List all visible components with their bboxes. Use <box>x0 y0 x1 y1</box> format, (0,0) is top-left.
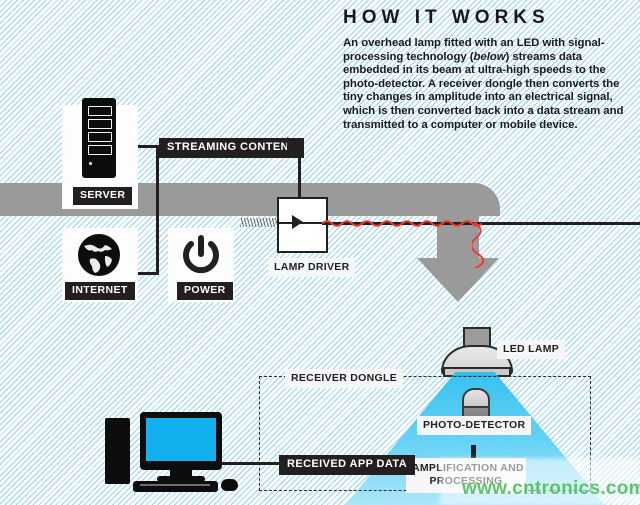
server-slot <box>88 145 112 155</box>
headline-body-italic: below <box>474 51 506 63</box>
headline-block: HOW IT WORKS An overhead lamp fitted wit… <box>343 8 633 132</box>
mouse-icon <box>221 479 238 491</box>
data-cable-red <box>322 219 482 228</box>
headline-body: An overhead lamp fitted with an LED with… <box>343 37 633 132</box>
server-slot <box>88 106 112 116</box>
keyboard-keys-line <box>140 484 210 486</box>
label-server: SERVER <box>73 187 132 205</box>
label-receiver-dongle: RECEIVER DONGLE <box>285 369 403 388</box>
server-slot <box>88 132 112 142</box>
server-status-led <box>89 162 92 165</box>
globe-icon <box>78 234 120 276</box>
lamp-driver-arrowhead <box>292 215 303 229</box>
label-received-app-data: RECEIVED APP DATA <box>279 455 415 475</box>
infographic-canvas: HOW IT WORKS An overhead lamp fitted wit… <box>0 0 640 505</box>
monitor-screen <box>146 418 216 461</box>
label-led-lamp: LED LAMP <box>497 340 565 359</box>
watermark-text: www.cntronics.com <box>462 478 640 500</box>
power-coil-icon <box>240 218 278 227</box>
power-symbol-icon <box>180 234 222 276</box>
label-power: POWER <box>177 282 233 300</box>
page-title: HOW IT WORKS <box>343 8 633 28</box>
label-streaming-content: STREAMING CONTENT <box>159 138 304 158</box>
server-slot <box>88 119 112 129</box>
label-internet: INTERNET <box>65 282 135 300</box>
label-photo-detector: PHOTO-DETECTOR <box>417 416 531 435</box>
wire-vertical-trunk <box>156 145 159 275</box>
label-lamp-driver: LAMP DRIVER <box>268 258 355 277</box>
keyboard-icon <box>133 481 218 492</box>
computer-tower-icon <box>105 418 130 484</box>
wire-internet-out <box>138 272 159 275</box>
data-cable-red-tail <box>472 222 488 268</box>
